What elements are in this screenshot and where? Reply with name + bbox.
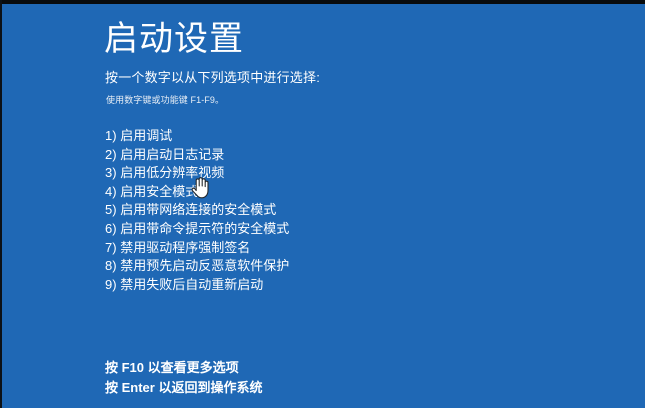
list-item[interactable]: 7) 禁用驱动程序强制签名 — [105, 239, 289, 258]
startup-settings-screen: 启动设置 按一个数字以从下列选项中进行选择: 使用数字键或功能键 F1-F9。 … — [0, 0, 645, 408]
footer-instructions: 按 F10 以查看更多选项 按 Enter 以返回到操作系统 — [105, 358, 525, 397]
option-number: 5) — [105, 202, 117, 217]
option-label: 启用调试 — [120, 128, 172, 143]
page-subtitle: 按一个数字以从下列选项中进行选择: — [105, 67, 320, 86]
list-item[interactable]: 1) 启用调试 — [105, 127, 289, 146]
footer-line-more-options[interactable]: 按 F10 以查看更多选项 — [105, 358, 525, 378]
list-item[interactable]: 3) 启用低分辨率视频 — [105, 164, 289, 183]
option-label: 禁用驱动程序强制签名 — [120, 240, 250, 255]
list-item[interactable]: 8) 禁用预先启动反恶意软件保护 — [105, 257, 289, 276]
option-label: 启用低分辨率视频 — [120, 165, 224, 180]
option-number: 2) — [105, 147, 117, 162]
bezel-left-bar — [0, 0, 2, 408]
option-number: 1) — [105, 128, 117, 143]
option-label: 禁用失败后自动重新启动 — [120, 277, 263, 292]
list-item[interactable]: 6) 启用带命令提示符的安全模式 — [105, 220, 289, 239]
page-title: 启动设置 — [104, 20, 244, 59]
option-label: 启用安全模式 — [120, 184, 198, 199]
option-label: 启用启动日志记录 — [120, 147, 224, 162]
content-pane: 启动设置 按一个数字以从下列选项中进行选择: 使用数字键或功能键 F1-F9。 … — [104, 4, 584, 408]
recovery-canvas: 启动设置 按一个数字以从下列选项中进行选择: 使用数字键或功能键 F1-F9。 … — [2, 4, 645, 408]
option-number: 3) — [105, 165, 117, 180]
list-item[interactable]: 5) 启用带网络连接的安全模式 — [105, 201, 289, 220]
option-number: 9) — [105, 277, 117, 292]
footer-line-return-os[interactable]: 按 Enter 以返回到操作系统 — [105, 378, 525, 398]
option-number: 6) — [105, 221, 117, 236]
list-item[interactable]: 4) 启用安全模式 — [105, 183, 289, 202]
option-label: 启用带命令提示符的安全模式 — [120, 221, 289, 236]
option-number: 4) — [105, 184, 117, 199]
startup-options-list: 1) 启用调试 2) 启用启动日志记录 3) 启用低分辨率视频 4) 启用安全模… — [105, 127, 289, 294]
bezel-top-bar — [0, 0, 645, 4]
list-item[interactable]: 9) 禁用失败后自动重新启动 — [105, 276, 289, 295]
option-label: 启用带网络连接的安全模式 — [120, 202, 276, 217]
option-number: 7) — [105, 240, 117, 255]
keyboard-hint: 使用数字键或功能键 F1-F9。 — [106, 93, 224, 106]
list-item[interactable]: 2) 启用启动日志记录 — [105, 146, 289, 165]
option-number: 8) — [105, 258, 117, 273]
option-label: 禁用预先启动反恶意软件保护 — [120, 258, 289, 273]
